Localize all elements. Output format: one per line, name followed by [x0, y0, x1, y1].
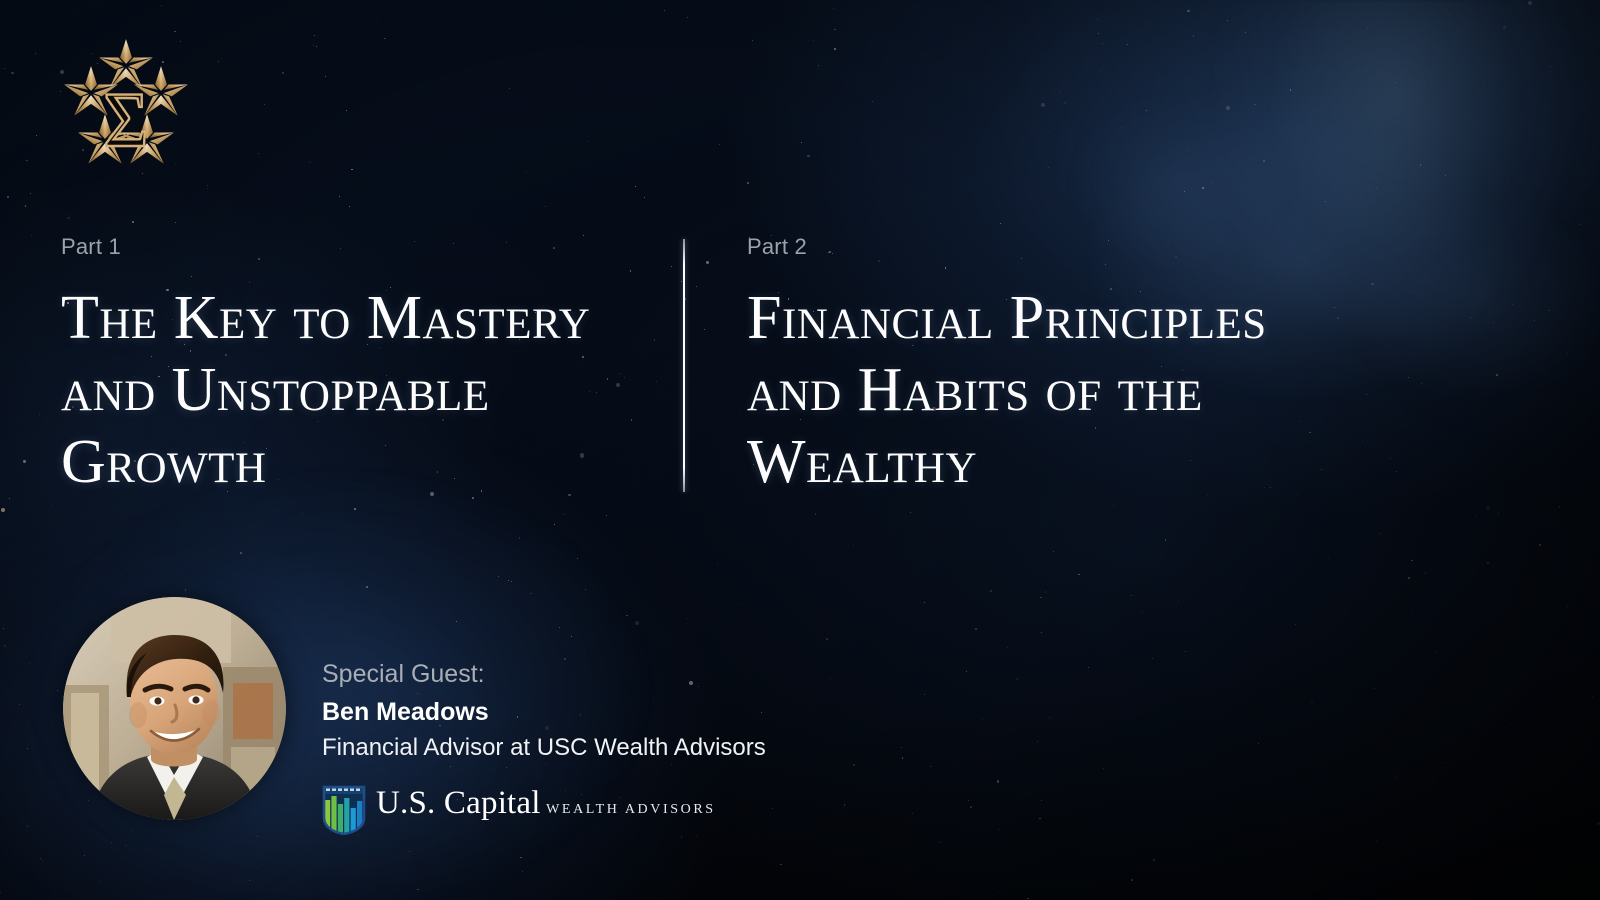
firm-tagline: WEALTH ADVISORS [546, 802, 716, 817]
part-1-block: Part 1 The Key to Mastery and Unstoppabl… [61, 236, 661, 498]
firm-logo: U.S. Capital WEALTH ADVISORS [322, 785, 1022, 837]
part-2-kicker: Part 2 [747, 236, 1387, 258]
guest-label: Special Guest: [322, 659, 1022, 689]
firm-name: U.S. Capital [376, 785, 541, 821]
guest-info-block: Special Guest: Ben Meadows Financial Adv… [322, 659, 1022, 837]
firm-wordmark: U.S. Capital WEALTH ADVISORS [376, 785, 716, 820]
part-1-kicker: Part 1 [61, 236, 661, 258]
part-2-block: Part 2 Financial Principles and Habits o… [747, 236, 1387, 498]
us-capital-shield-bars-icon [322, 785, 366, 835]
five-star-sigma-logo-icon: Σ [62, 38, 190, 170]
sigma-glyph: Σ [103, 76, 148, 163]
guest-headshot-avatar [63, 597, 286, 820]
guest-role: Financial Advisor at USC Wealth Advisors [322, 733, 1022, 763]
guest-name: Ben Meadows [322, 697, 1022, 727]
vertical-divider [683, 239, 685, 492]
part-1-title: The Key to Mastery and Unstoppable Growt… [61, 282, 661, 498]
presentation-slide: Σ Part 1 The Key to Mastery and Unstoppa… [0, 0, 1600, 900]
part-2-title: Financial Principles and Habits of the W… [747, 282, 1387, 498]
